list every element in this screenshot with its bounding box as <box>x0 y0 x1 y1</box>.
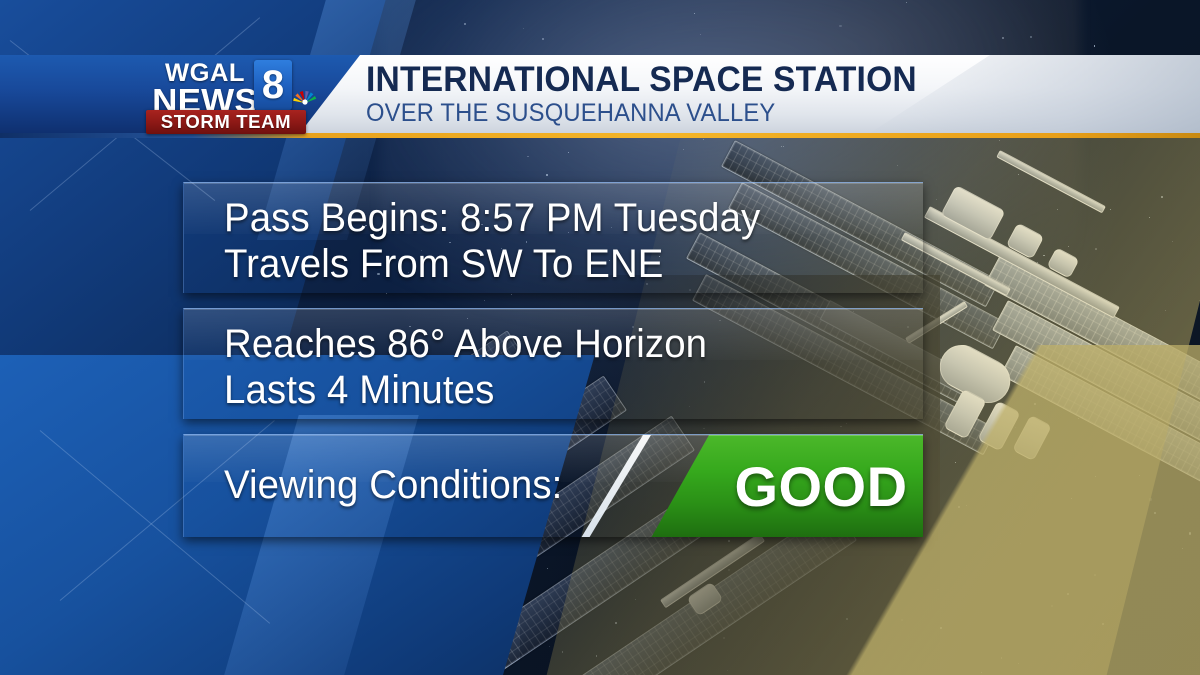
logo-channel-number: 8 <box>254 60 292 110</box>
pass-geometry-panel: Reaches 86° Above Horizon Lasts 4 Minute… <box>183 308 923 419</box>
iss-info-panels: Pass Begins: 8:57 PM Tuesday Travels Fro… <box>183 182 923 552</box>
max-elevation-text: Reaches 86° Above Horizon <box>224 321 895 367</box>
viewing-conditions-panel: Viewing Conditions: GOOD <box>183 434 923 537</box>
pass-direction-text: Travels From SW To ENE <box>224 241 895 287</box>
broadcast-graphic: INTERNATIONAL SPACE STATION OVER THE SUS… <box>0 0 1200 675</box>
title-bar-text: INTERNATIONAL SPACE STATION OVER THE SUS… <box>366 59 1186 129</box>
pass-duration-text: Lasts 4 Minutes <box>224 367 895 413</box>
pass-begins-text: Pass Begins: 8:57 PM Tuesday <box>224 195 895 241</box>
nbc-peacock-icon <box>292 84 318 106</box>
page-title: INTERNATIONAL SPACE STATION <box>366 62 1153 98</box>
logo-channel-number-badge: 8 <box>254 60 292 110</box>
page-subtitle: OVER THE SUSQUEHANNA VALLEY <box>366 100 1145 126</box>
status-badge-value: GOOD <box>729 435 913 537</box>
pass-geometry-content: Reaches 86° Above Horizon Lasts 4 Minute… <box>184 309 923 419</box>
wgal-news-8-storm-team-logo: WGAL NEWS 8 STORM TEAM <box>146 60 306 134</box>
logo-storm-team-bar: STORM TEAM <box>146 110 306 134</box>
logo-wordmark: WGAL NEWS <box>146 61 264 116</box>
logo-storm-team-label: STORM TEAM <box>144 110 309 134</box>
pass-timing-content: Pass Begins: 8:57 PM Tuesday Travels Fro… <box>184 183 923 293</box>
pass-timing-panel: Pass Begins: 8:57 PM Tuesday Travels Fro… <box>183 182 923 293</box>
